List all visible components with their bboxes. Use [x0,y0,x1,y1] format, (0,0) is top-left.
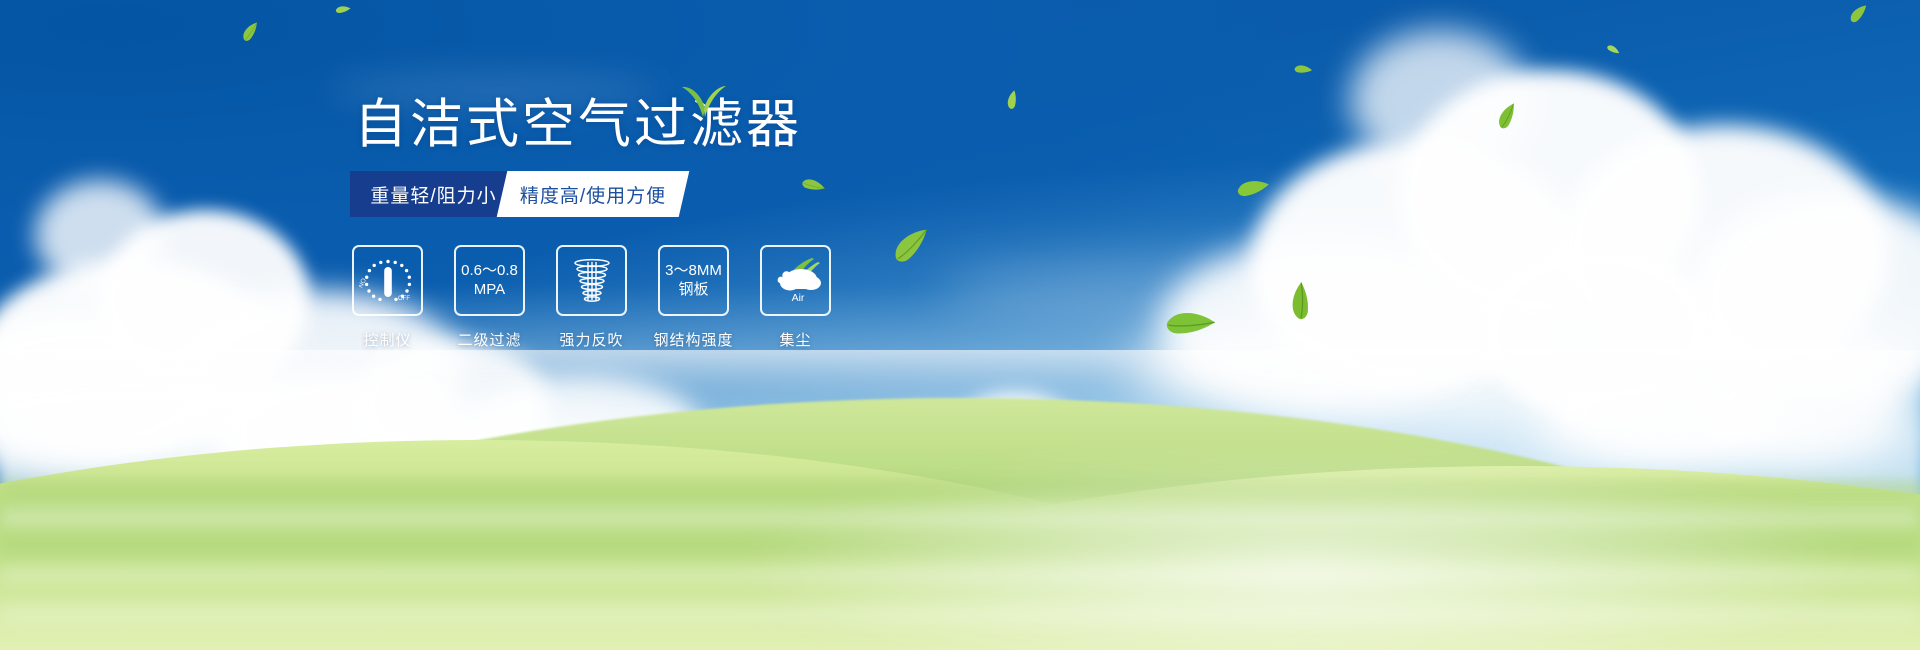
feature-label: 钢结构强度 [654,329,734,350]
feature-item-steel-plate[interactable]: 3～8MM 钢板 钢结构强度 [658,245,729,350]
feature-icon-box [556,245,627,316]
feature-item-pressure[interactable]: 0.6～0.8 MPA 二级过滤 [454,245,525,350]
feature-value-line1: 0.6～0.8 [461,262,518,280]
tagline-pill-0[interactable]: 重量轻/阻力小 [350,171,517,217]
tagline-pill-0-label: 重量轻/阻力小 [370,181,496,208]
tagline-pills: 重量轻/阻力小 精度高/使用方便 [350,171,870,217]
feature-value-line1: 3～8MM [665,262,722,280]
grass-sun-glow [730,450,1882,650]
svg-text:OFF: OFF [398,296,410,302]
feature-value-line2: 钢板 [678,281,708,299]
tagline-pill-1-label: 精度高/使用方便 [520,181,666,208]
banner-content: 自洁式空气过滤器 重量轻/阻力小 精度高/使用方便 [350,96,870,350]
feature-label: 集尘 [779,329,811,350]
feature-item-control-gauge[interactable]: NO OFF 控制仪 [352,245,423,350]
feature-item-backblow[interactable]: 强力反吹 [556,245,627,350]
control-gauge-icon: NO OFF [359,253,417,309]
feature-label: 控制仪 [363,329,411,350]
air-cloud-icon: Air [768,256,824,306]
tagline-pill-1[interactable]: 精度高/使用方便 [497,171,690,217]
horizon-glow [0,350,1920,394]
feature-icon-box: NO OFF [352,245,423,316]
feature-label: 强力反吹 [559,329,623,350]
backblow-coil-icon [567,256,617,306]
air-cloud-caption: Air [791,292,804,304]
feature-list: NO OFF 控制仪 0.6～0.8 MPA 二级过滤 [352,245,870,350]
grass-field [0,350,1920,650]
feature-item-dust-collection[interactable]: Air 集尘 [760,245,831,350]
feature-icon-box: 0.6～0.8 MPA [454,245,525,316]
feature-icon-box: Air [760,245,831,316]
hero-banner: 自洁式空气过滤器 重量轻/阻力小 精度高/使用方便 [0,0,1920,650]
feature-icon-box: 3～8MM 钢板 [658,245,729,316]
page-title: 自洁式空气过滤器 [354,96,870,153]
feature-value-line2: MPA [474,281,505,299]
feature-label: 二级过滤 [457,329,521,350]
title-leaf-icon [680,84,728,123]
